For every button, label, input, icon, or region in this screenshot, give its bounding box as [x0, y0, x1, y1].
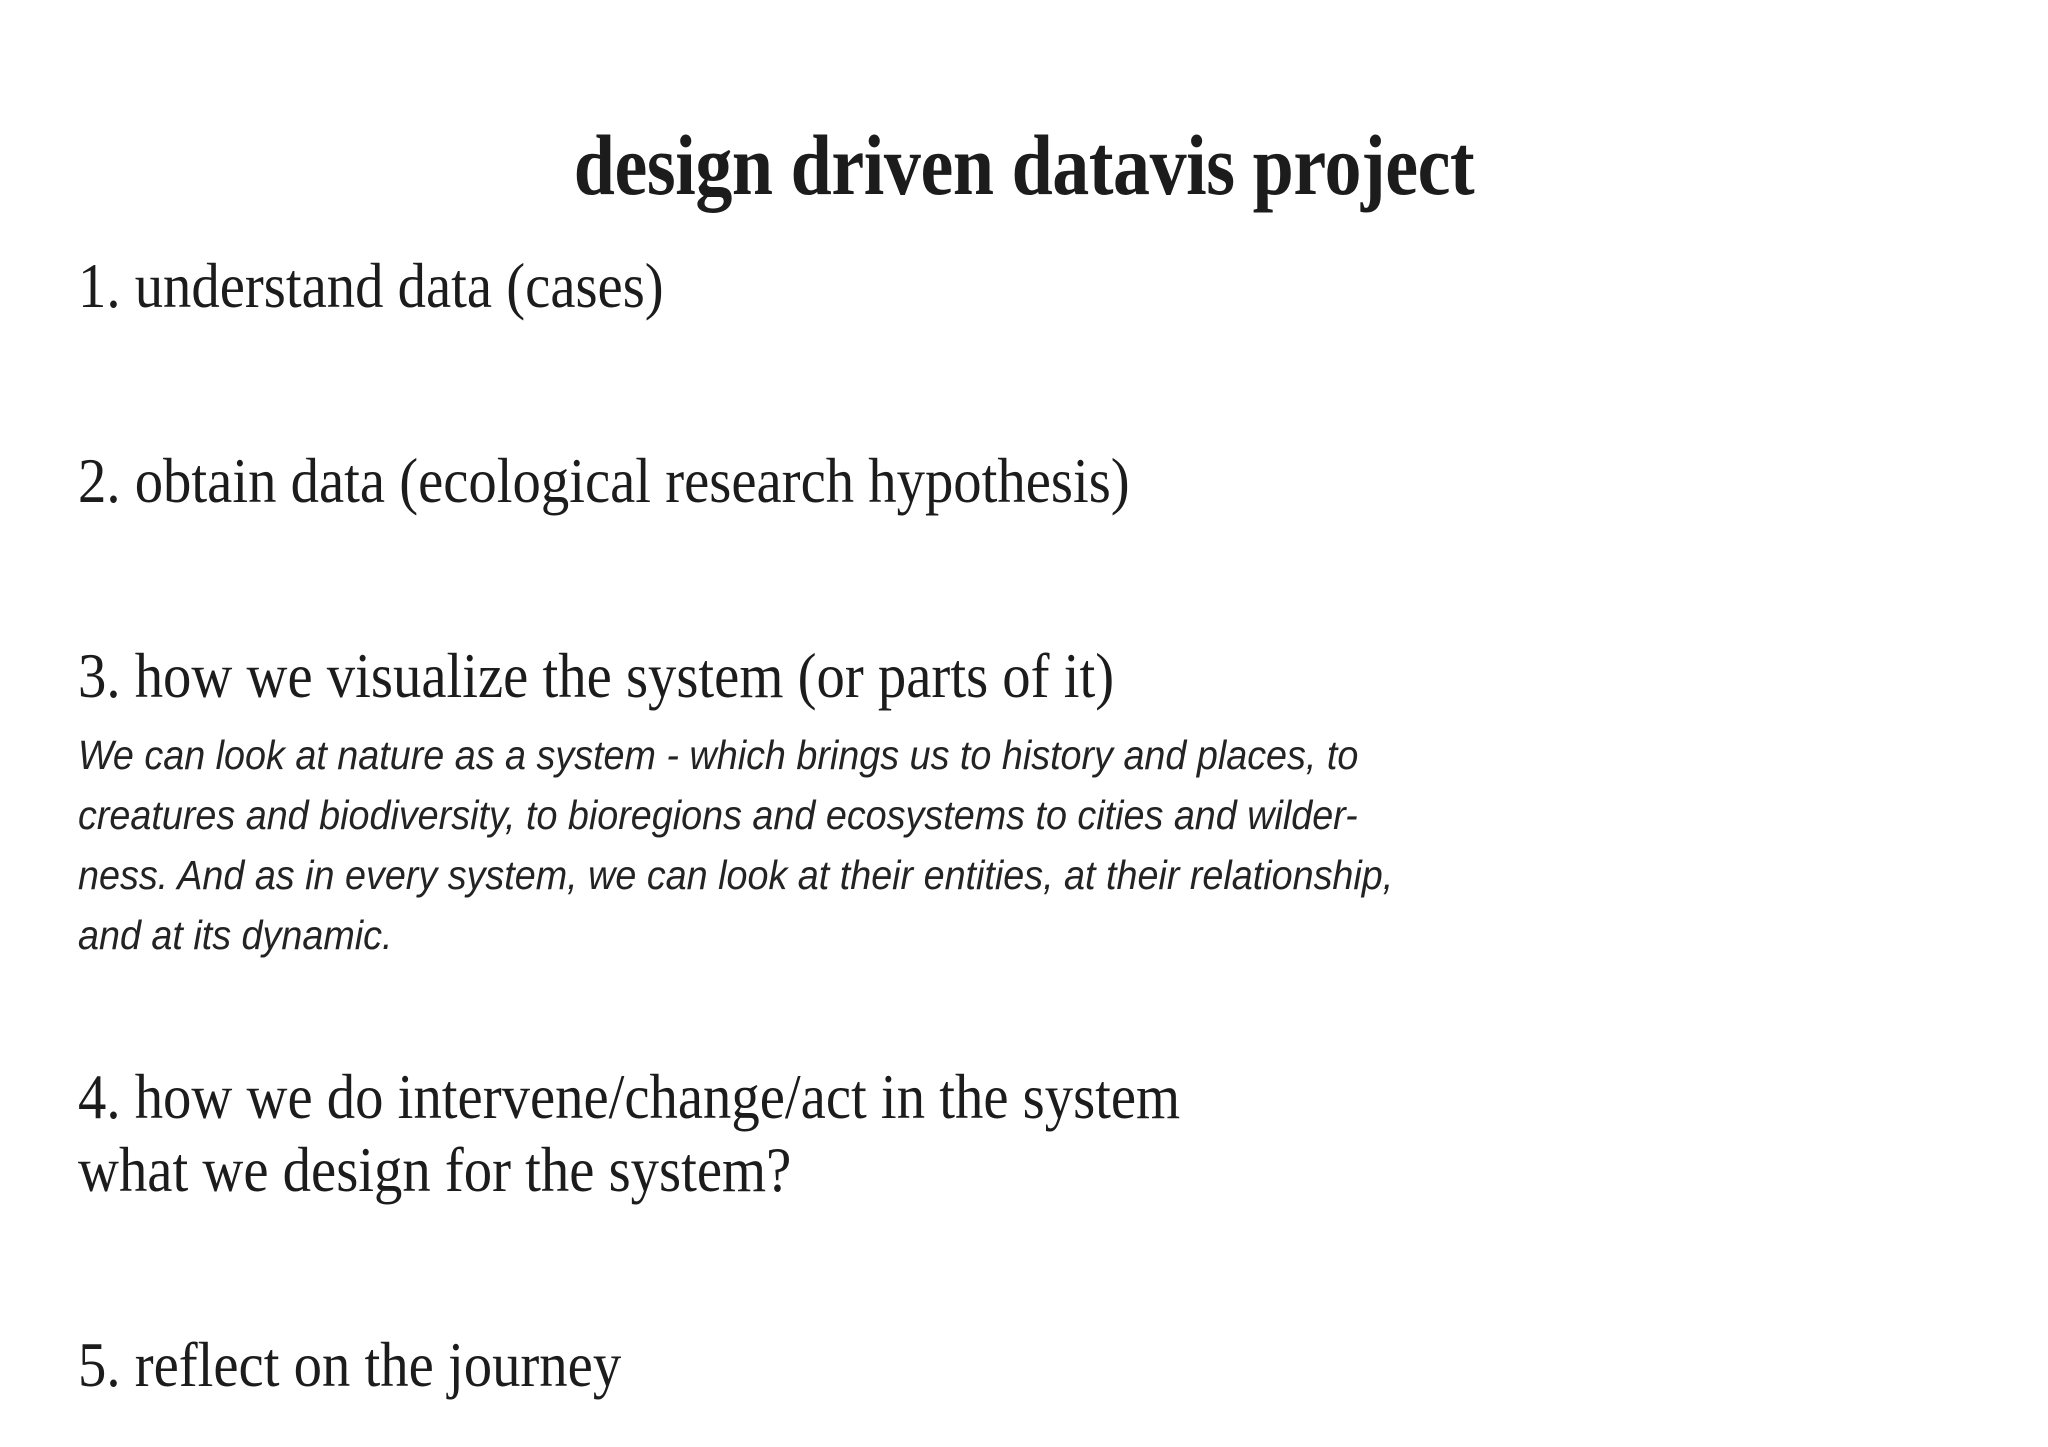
outline-item-4-line-2: what we design for the system?: [78, 1134, 1788, 1207]
note-line-1: We can look at nature as a system - whic…: [78, 725, 1513, 785]
outline-item-4: 4. how we do intervene/change/act in the…: [78, 1061, 1788, 1207]
outline-item-4-line-1: 4. how we do intervene/change/act in the…: [78, 1061, 1788, 1134]
outline-item-1: 1. understand data (cases): [78, 250, 1788, 323]
note-line-4: and at its dynamic.: [78, 905, 1513, 965]
outline-item-2: 2. obtain data (ecological research hypo…: [78, 445, 1788, 518]
outline-item-3-text: 3. how we visualize the system (or parts…: [78, 640, 1788, 713]
outline-item-1-text: 1. understand data (cases): [78, 250, 1788, 323]
outline-list: 1. understand data (cases) 2. obtain dat…: [78, 250, 1978, 1402]
slide-canvas: design driven datavis project 1. underst…: [0, 0, 2048, 1447]
spacer-1: [78, 323, 1978, 445]
outline-item-2-text: 2. obtain data (ecological research hypo…: [78, 445, 1788, 518]
page-title: design driven datavis project: [143, 120, 1904, 210]
outline-item-5-text: 5. reflect on the journey: [78, 1329, 1788, 1402]
outline-item-3-note: We can look at nature as a system - whic…: [78, 725, 1513, 965]
outline-item-3: 3. how we visualize the system (or parts…: [78, 640, 1788, 713]
spacer-2: [78, 518, 1978, 640]
note-line-2: creatures and biodiversity, to bioregion…: [78, 785, 1513, 845]
outline-item-5: 5. reflect on the journey: [78, 1329, 1788, 1402]
note-line-3: ness. And as in every system, we can loo…: [78, 845, 1513, 905]
spacer-3: [78, 965, 1978, 1061]
spacer-4: [78, 1207, 1978, 1329]
